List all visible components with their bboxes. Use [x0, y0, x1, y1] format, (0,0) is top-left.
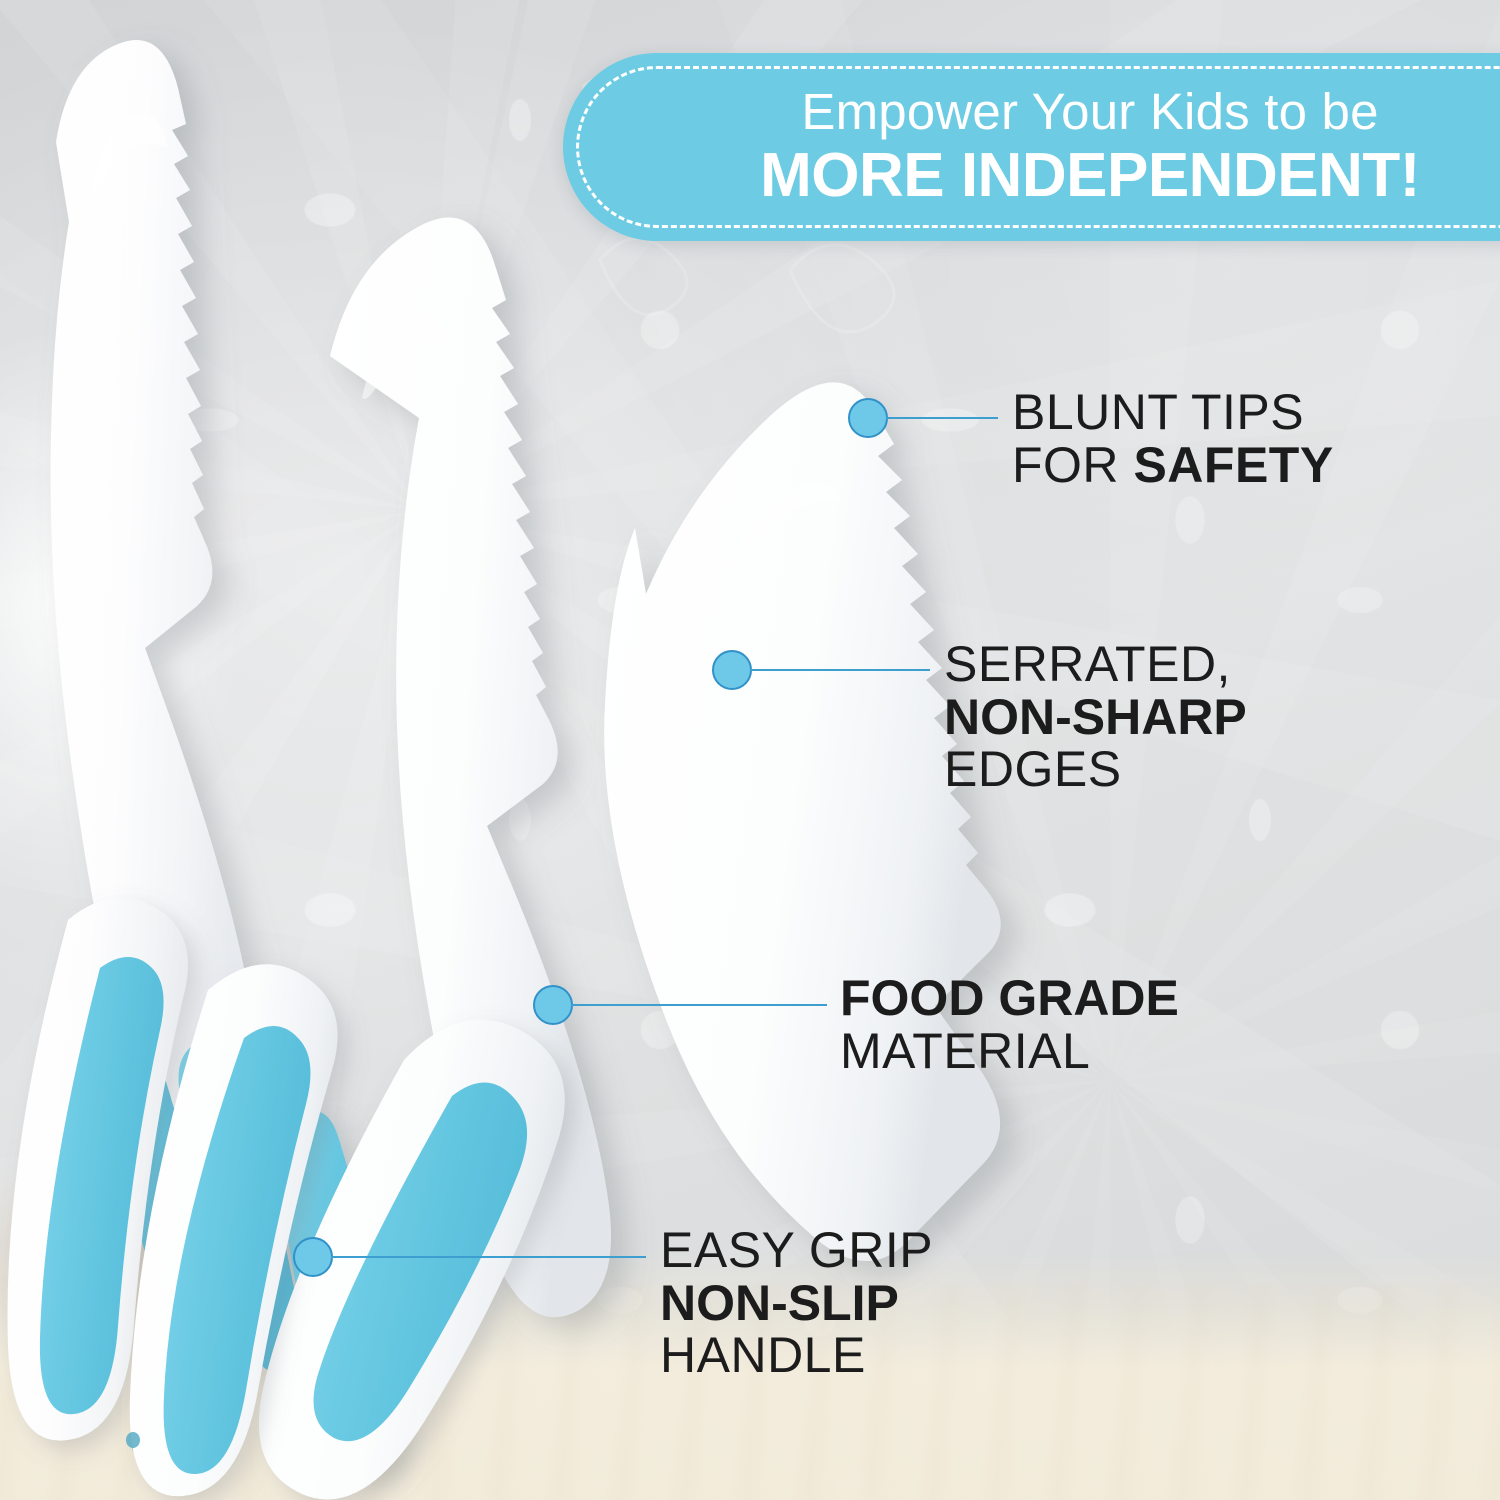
callout-line-2: MATERIAL	[840, 1025, 1179, 1078]
callout-line-2: NON-SHARP	[944, 691, 1247, 744]
callout-dot-icon	[712, 650, 752, 690]
banner-headline-line2: MORE INDEPENDENT!	[760, 143, 1420, 209]
headline-banner: Empower Your Kids to be MORE INDEPENDENT…	[563, 53, 1500, 241]
callout-line-3: EDGES	[944, 743, 1247, 796]
callout-line-2: FOR SAFETY	[1012, 439, 1334, 492]
callout-line-1: EASY GRIP	[660, 1224, 933, 1277]
callout-line-2-bold: SAFETY	[1133, 437, 1333, 493]
callout-leader-line	[886, 417, 998, 419]
callout-line-2: NON-SLIP	[660, 1277, 933, 1330]
knife-3-body	[604, 382, 1001, 1261]
callout-line-1: SERRATED,	[944, 638, 1247, 691]
callout-leader-line	[331, 1256, 646, 1258]
banner-headline-line1: Empower Your Kids to be	[801, 85, 1378, 139]
callout-line-1: FOOD GRADE	[840, 972, 1179, 1025]
callout-food-grade-text: FOOD GRADE MATERIAL	[840, 972, 1179, 1077]
callout-dot-icon	[533, 985, 573, 1025]
callout-dot-icon	[848, 398, 888, 438]
callout-handle-text: EASY GRIP NON-SLIP HANDLE	[660, 1224, 933, 1382]
callout-leader-line	[750, 669, 930, 671]
callout-dot-icon	[293, 1237, 333, 1277]
callout-blunt-tips-text: BLUNT TIPS FOR SAFETY	[1012, 386, 1334, 491]
callout-leader-line	[571, 1004, 827, 1006]
banner-text-block: Empower Your Kids to be MORE INDEPENDENT…	[635, 61, 1500, 233]
infographic-canvas: Empower Your Kids to be MORE INDEPENDENT…	[0, 0, 1500, 1500]
callout-line-1: BLUNT TIPS	[1012, 386, 1334, 439]
callout-line-2-prefix: FOR	[1012, 437, 1133, 493]
callout-line-3: HANDLE	[660, 1329, 933, 1382]
handle-vent-hole	[126, 1432, 140, 1448]
callout-serrated-text: SERRATED, NON-SHARP EDGES	[944, 638, 1247, 796]
